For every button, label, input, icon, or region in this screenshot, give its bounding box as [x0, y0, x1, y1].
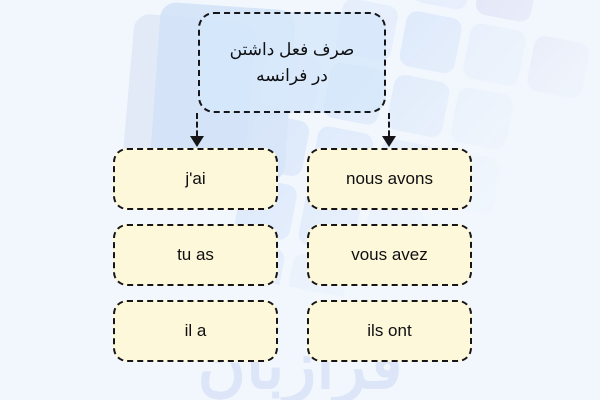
title-line-2: در فرانسه — [230, 63, 355, 89]
title-line-1: صرف فعل داشتن — [230, 37, 355, 63]
node-label: j'ai — [185, 169, 205, 189]
title-node-text: صرف فعل داشتن در فرانسه — [230, 37, 355, 88]
node-label: tu as — [177, 245, 214, 265]
node-label: il a — [185, 321, 207, 341]
node-nous-avons[interactable]: nous avons — [307, 148, 472, 210]
node-label: vous avez — [351, 245, 428, 265]
node-label: ils ont — [367, 321, 411, 341]
arrow-head-icon — [382, 136, 396, 147]
watermark-text: فرازبان — [0, 332, 600, 398]
arrow-head-icon — [190, 136, 204, 147]
node-il-a[interactable]: il a — [113, 300, 278, 362]
node-jai[interactable]: j'ai — [113, 148, 278, 210]
node-label: nous avons — [346, 169, 433, 189]
node-vous-avez[interactable]: vous avez — [307, 224, 472, 286]
title-node: صرف فعل داشتن در فرانسه — [198, 12, 386, 113]
node-ils-ont[interactable]: ils ont — [307, 300, 472, 362]
node-tu-as[interactable]: tu as — [113, 224, 278, 286]
diagram-canvas: فرازبان صرف فعل داشتن در فرانسه j'ai tu … — [0, 0, 600, 400]
